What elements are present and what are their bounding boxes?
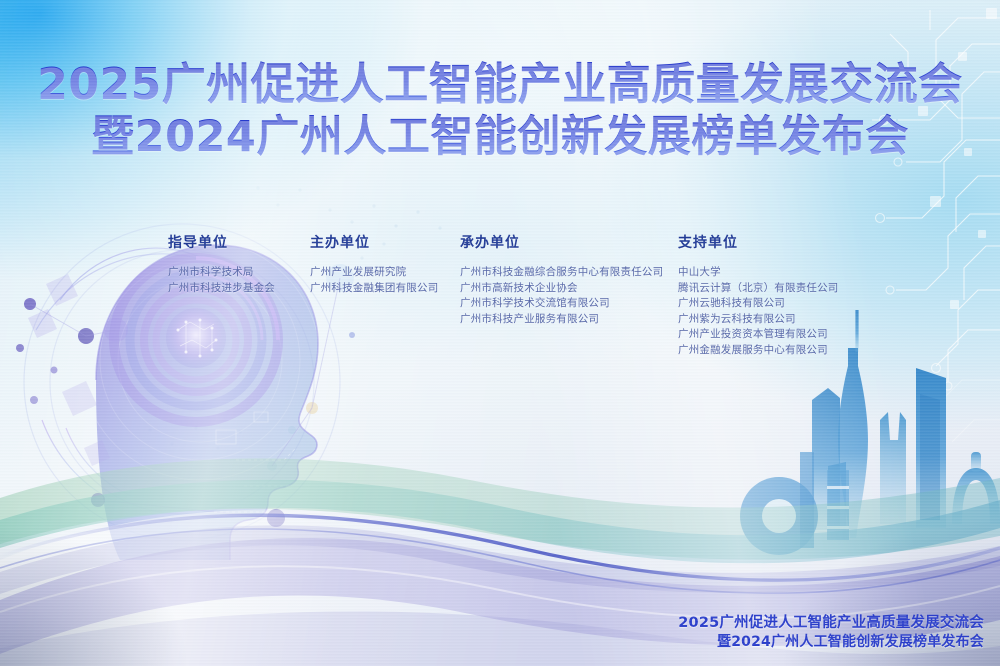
watermark-line-1: 2025广州促进人工智能产业高质量发展交流会 — [678, 614, 984, 633]
org-item: 广州金融发展服务中心有限公司 — [678, 343, 868, 359]
event-title: 2025广州促进人工智能产业高质量发展交流会 暨2024广州人工智能创新发展榜单… — [0, 58, 1000, 164]
org-item: 腾讯云计算（北京）有限责任公司 — [678, 281, 868, 297]
org-column-support: 支持单位 中山大学 腾讯云计算（北京）有限责任公司 广州云驰科技有限公司 广州紫… — [678, 232, 868, 358]
org-heading: 支持单位 — [678, 232, 868, 252]
org-item: 广州市科技产业服务有限公司 — [460, 312, 678, 328]
org-item: 广州产业发展研究院 — [310, 265, 460, 281]
bottom-watermark: 2025广州促进人工智能产业高质量发展交流会 暨2024广州人工智能创新发展榜单… — [678, 614, 984, 652]
org-heading: 指导单位 — [168, 232, 310, 252]
title-line-1: 2025广州促进人工智能产业高质量发展交流会 — [0, 58, 1000, 111]
org-heading: 承办单位 — [460, 232, 678, 252]
org-column-guiding: 指导单位 广州市科学技术局 广州市科技进步基金会 — [168, 232, 310, 358]
watermark-line-2: 暨2024广州人工智能创新发展榜单发布会 — [678, 633, 984, 652]
org-item: 广州紫为云科技有限公司 — [678, 312, 868, 328]
corner-shadow-left — [0, 526, 190, 666]
org-item: 广州云驰科技有限公司 — [678, 296, 868, 312]
org-item: 广州市科技进步基金会 — [168, 281, 310, 297]
org-item: 广州市科学技术局 — [168, 265, 310, 281]
conference-backdrop: 2025广州促进人工智能产业高质量发展交流会 暨2024广州人工智能创新发展榜单… — [0, 0, 1000, 666]
org-column-organizer: 承办单位 广州市科技金融综合服务中心有限责任公司 广州市高新技术企业协会 广州市… — [460, 232, 678, 358]
org-item: 中山大学 — [678, 265, 868, 281]
org-item: 广州市科技金融综合服务中心有限责任公司 — [460, 265, 678, 281]
organization-columns: 指导单位 广州市科学技术局 广州市科技进步基金会 主办单位 广州产业发展研究院 … — [168, 232, 868, 358]
org-item: 广州市高新技术企业协会 — [460, 281, 678, 297]
org-column-host: 主办单位 广州产业发展研究院 广州科技金融集团有限公司 — [310, 232, 460, 358]
org-item: 广州市科学技术交流馆有限公司 — [460, 296, 678, 312]
org-item: 广州产业投资资本管理有限公司 — [678, 327, 868, 343]
org-heading: 主办单位 — [310, 232, 460, 252]
org-item: 广州科技金融集团有限公司 — [310, 281, 460, 297]
title-line-2: 暨2024广州人工智能创新发展榜单发布会 — [0, 111, 1000, 164]
